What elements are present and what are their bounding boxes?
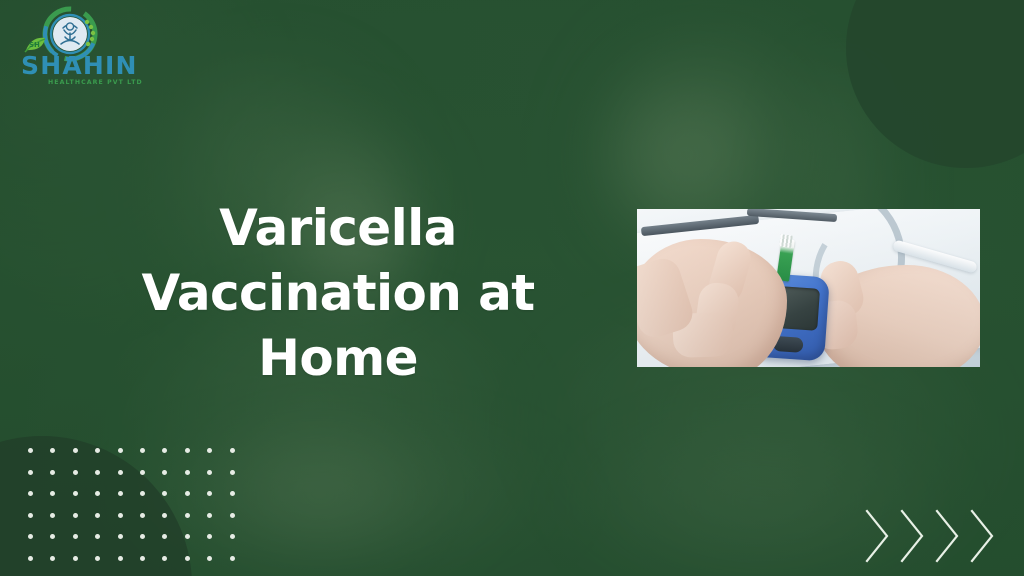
dot: [118, 513, 123, 518]
dot: [50, 513, 55, 518]
dot: [207, 534, 212, 539]
dot: [28, 470, 33, 475]
logo-tagline-text: HEALTHCARE PVT LTD: [48, 79, 143, 86]
dot: [95, 448, 100, 453]
dot: [28, 448, 33, 453]
dot: [73, 470, 78, 475]
dot: [140, 470, 145, 475]
dot: [207, 513, 212, 518]
dot: [50, 470, 55, 475]
dot: [185, 491, 190, 496]
title-line-3: Home: [62, 326, 614, 391]
dot: [162, 470, 167, 475]
dot: [207, 470, 212, 475]
inset-photo-glucose-meter: [637, 209, 980, 367]
dot: [140, 556, 145, 561]
dot: [207, 556, 212, 561]
title-line-1: Varicella: [62, 196, 614, 261]
dot: [118, 448, 123, 453]
dot: [185, 470, 190, 475]
dot: [162, 491, 167, 496]
svg-text:SH: SH: [29, 41, 40, 49]
dot: [73, 556, 78, 561]
chevron-right-icon: [969, 508, 995, 564]
page-title: Varicella Vaccination at Home: [62, 196, 614, 391]
dot: [140, 491, 145, 496]
dot: [95, 556, 100, 561]
dot: [230, 556, 235, 561]
dot: [162, 556, 167, 561]
chevron-right-icon: [934, 508, 960, 564]
dot: [230, 448, 235, 453]
dot: [28, 513, 33, 518]
dot: [95, 491, 100, 496]
dot: [73, 513, 78, 518]
dot: [140, 448, 145, 453]
logo-leaf-icon: SH: [25, 38, 45, 52]
dot: [118, 534, 123, 539]
dot: [73, 534, 78, 539]
shahin-healthcare-logo[interactable]: SH SHAHIN HEALTHCARE PVT LTD: [8, 6, 148, 92]
chevron-right-icon: [899, 508, 925, 564]
dot: [140, 513, 145, 518]
dot: [162, 513, 167, 518]
dot: [28, 534, 33, 539]
dot: [185, 448, 190, 453]
dot: [73, 448, 78, 453]
dot: [162, 448, 167, 453]
title-line-2: Vaccination at: [62, 261, 614, 326]
dot: [50, 491, 55, 496]
dot: [185, 556, 190, 561]
dot: [73, 491, 78, 496]
dot: [230, 534, 235, 539]
dot: [207, 491, 212, 496]
dot: [162, 534, 167, 539]
dot: [50, 534, 55, 539]
logo-brand-text: SHAHIN: [21, 51, 138, 80]
decorative-dot-grid: [28, 448, 252, 576]
dot: [28, 556, 33, 561]
dot: [118, 491, 123, 496]
dot: [50, 556, 55, 561]
dot: [95, 534, 100, 539]
promotional-banner: SH SHAHIN HEALTHCARE PVT LTD Varicella V…: [0, 0, 1024, 576]
dot: [28, 491, 33, 496]
chevron-right-icon: [864, 508, 890, 564]
dot: [118, 470, 123, 475]
dot: [95, 470, 100, 475]
dot: [95, 513, 100, 518]
dot: [230, 513, 235, 518]
decorative-chevrons: [864, 508, 995, 564]
dot: [140, 534, 145, 539]
dot: [50, 448, 55, 453]
dot: [230, 491, 235, 496]
dot: [230, 470, 235, 475]
dot: [185, 513, 190, 518]
dot: [118, 556, 123, 561]
dot: [207, 448, 212, 453]
dot: [185, 534, 190, 539]
